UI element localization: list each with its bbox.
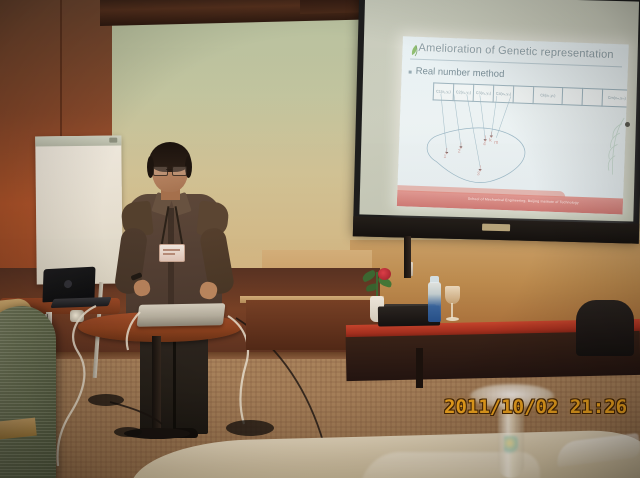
foreground-banquet-chair: [0, 306, 56, 478]
water-bottle: [428, 282, 441, 322]
badge-text-line-1: [163, 249, 180, 251]
chair-weave-texture: [0, 306, 56, 478]
conference-table-leg: [416, 348, 423, 388]
round-table-base: [124, 428, 190, 439]
projector-lens: [70, 310, 84, 322]
presenter-leg-seam: [173, 340, 176, 430]
presenter-name-badge: [159, 244, 185, 262]
wine-glass-foot: [446, 317, 459, 321]
presentation-photo: Amelioration of Genetic representation R…: [0, 0, 640, 478]
svg-text:2: 2: [458, 148, 461, 154]
round-table-column: [152, 336, 161, 436]
svg-text:k: k: [489, 138, 492, 144]
wine-glass-bowl: [445, 286, 460, 304]
screen-brand-tag: [482, 224, 510, 232]
wine-glass-stem: [451, 303, 453, 318]
wall-speaker-dot-icon: [625, 122, 630, 127]
slide-bullet-text: Real number method: [415, 66, 504, 80]
camera-timestamp: 2011/10/02 21:26: [444, 396, 627, 418]
projection-screen-surface: Amelioration of Genetic representation R…: [359, 0, 639, 222]
svg-text:1: 1: [443, 154, 446, 160]
presentation-slide: Amelioration of Genetic representation R…: [397, 36, 629, 214]
screen-support-pole: [404, 236, 411, 278]
presenter-glasses-icon: [153, 166, 187, 174]
glasses-lens-left: [153, 166, 168, 176]
glasses-lens-right: [172, 166, 187, 176]
laptop-lid-logo-icon: [64, 280, 72, 288]
flip-chart-clamp: [35, 136, 121, 147]
table-wine-glass: [444, 286, 460, 324]
right-side-chair: [576, 300, 634, 356]
projection-screen: Amelioration of Genetic representation R…: [353, 0, 640, 244]
svg-text:3: 3: [477, 171, 480, 177]
red-rose-flower: [378, 268, 391, 280]
badge-text-line-2: [163, 253, 175, 255]
video-projector: [137, 303, 226, 326]
presenter-speaker: [112, 140, 240, 430]
slide-title: Amelioration of Genetic representation: [418, 42, 622, 61]
slide-footer-text: School of Mechanical Engineering, Beijin…: [468, 197, 579, 205]
flip-chart-easel: [35, 136, 123, 285]
svg-text:m: m: [494, 140, 498, 146]
foreground-glass-highlight: [504, 436, 518, 454]
slide-fern-decoration-icon: [586, 111, 627, 182]
svg-text:4: 4: [483, 141, 486, 147]
